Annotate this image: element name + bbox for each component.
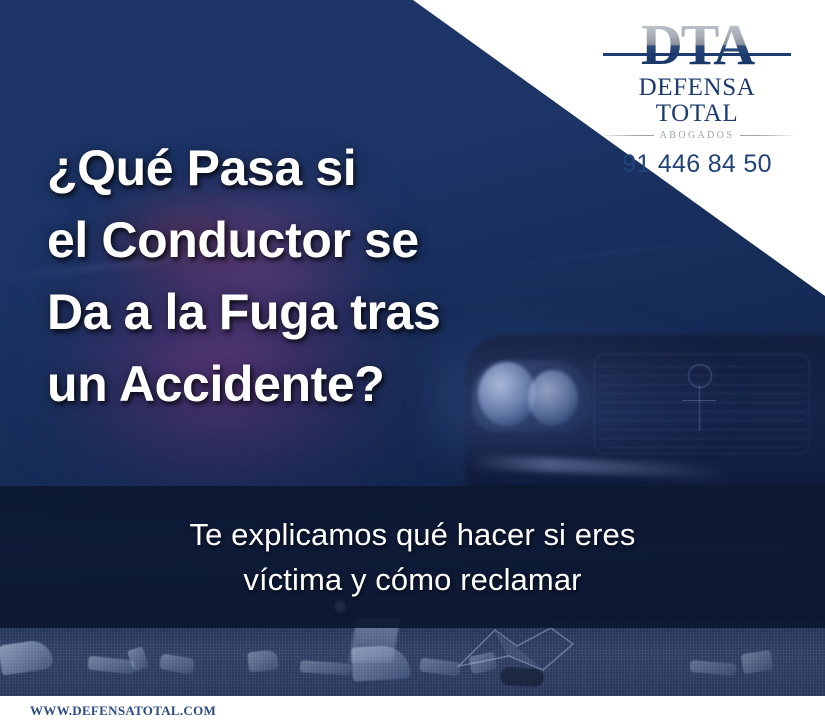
road-surface	[0, 618, 825, 696]
hood-ornament-icon	[688, 364, 712, 388]
headline-line-2: el Conductor se	[47, 204, 607, 276]
broken-glass-shard	[455, 626, 575, 674]
headline-line-3: Da a la Fuga tras	[47, 276, 607, 348]
headline-line-4: un Accidente?	[47, 348, 607, 420]
logo-tagline: ABOGADOS	[660, 130, 735, 141]
brand-logo: DTA DEFENSA TOTAL ABOGADOS 91 446 84 50	[597, 16, 797, 179]
headline: ¿Qué Pasa si el Conductor se Da a la Fug…	[47, 132, 607, 420]
road-asphalt-texture	[0, 618, 825, 696]
logo-tagline-rule-left	[597, 135, 654, 136]
subtitle-band: Te explicamos qué hacer si eres víctima …	[0, 486, 825, 628]
website-url[interactable]: WWW.DEFENSATOTAL.COM	[30, 703, 216, 719]
subtitle-line-2: víctima y cómo reclamar	[243, 557, 581, 602]
hood-ornament-bar	[682, 400, 716, 401]
headline-line-1: ¿Qué Pasa si	[47, 132, 607, 204]
subtitle-line-1: Te explicamos qué hacer si eres	[190, 512, 636, 557]
road-debris	[247, 650, 279, 673]
logo-monogram: DTA	[597, 16, 797, 74]
logo-tagline-rule-right	[740, 135, 797, 136]
poster-canvas: Te explicamos qué hacer si eres víctima …	[0, 0, 825, 725]
logo-brand-name: DEFENSA TOTAL	[597, 75, 797, 127]
phone-number[interactable]: 91 446 84 50	[597, 150, 797, 179]
logo-monogram-wrap: DTA	[597, 16, 797, 74]
logo-divider-rule	[603, 53, 791, 56]
footer-bar: WWW.DEFENSATOTAL.COM	[0, 696, 825, 725]
logo-tagline-row: ABOGADOS	[597, 130, 797, 141]
